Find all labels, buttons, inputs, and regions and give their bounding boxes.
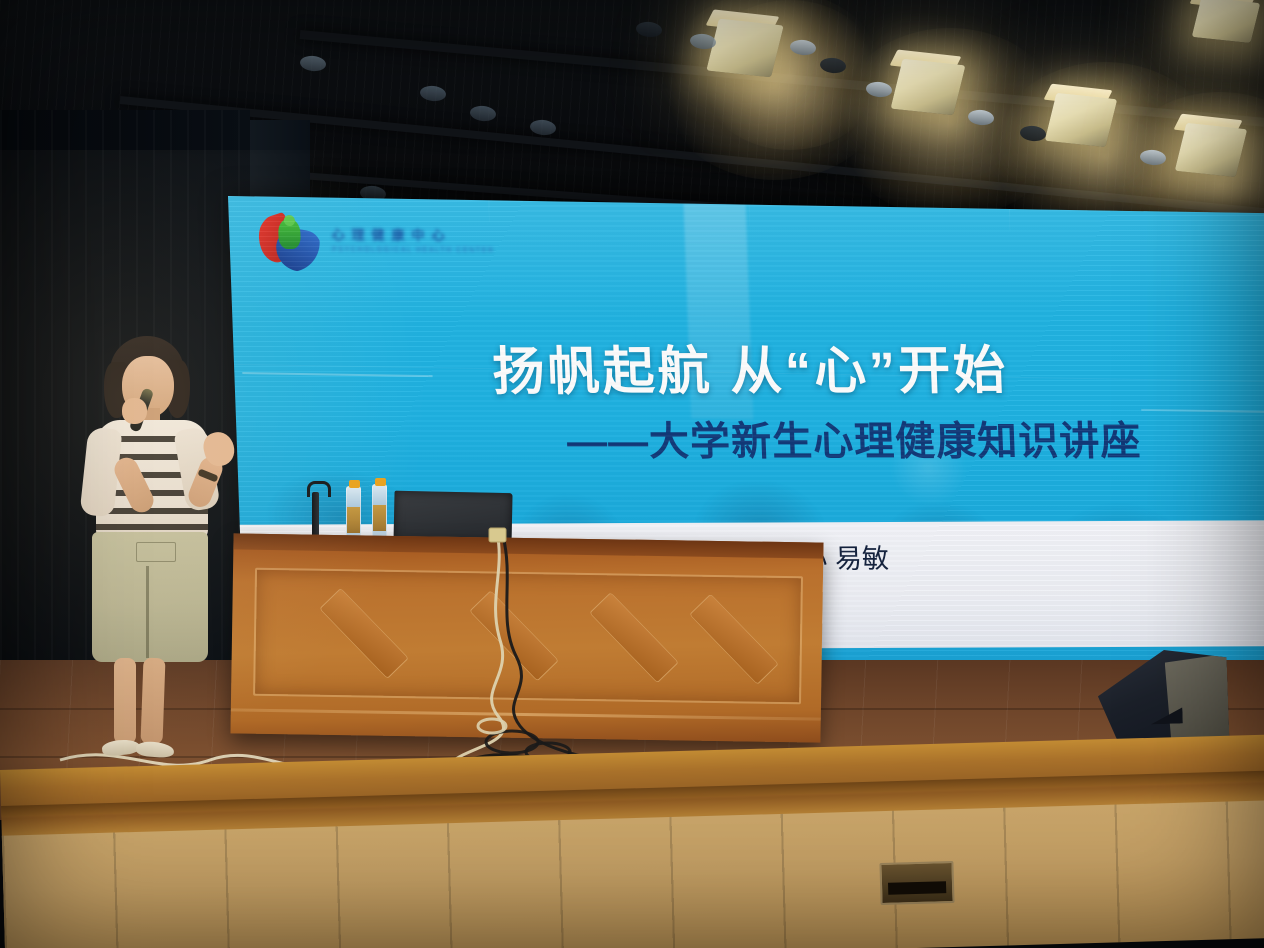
stage-spotlight [1180,126,1242,174]
floor-vent [879,861,954,905]
table-diamond-motif [590,593,677,682]
spotlight-body [1045,93,1117,147]
skirt-pocket [136,542,176,562]
presenter-table [230,533,823,742]
speaker-grille [1165,654,1230,740]
presenter-shoe [101,738,140,757]
skirt-slit [146,566,149,658]
table-diamond-motif [690,595,777,684]
bottle-label [373,505,386,531]
bottle-label [347,507,360,533]
microphone-stand [312,492,319,540]
spotlight-body [1175,123,1247,177]
table-diamond-motif [320,589,407,678]
spotlight-body [891,59,966,115]
stage-apron [0,733,1264,948]
stage-spotlight [1050,96,1112,144]
stage-spotlight [712,22,778,74]
table-trim [231,708,821,720]
presenter-leg [141,658,166,745]
top-stripe [96,524,208,530]
table-diamond-motif [470,591,557,680]
stage-spotlight [896,62,960,112]
apron-panel-wall [2,798,1264,948]
table-panel-frame [253,568,803,705]
bottle-cap [375,478,386,486]
spotlight-body [706,19,783,78]
presenter-shoe [136,741,175,759]
presenter-mic-hand [122,398,147,424]
presenter-skirt [92,532,208,662]
presenter-leg [114,658,136,744]
stage-spotlight [1196,0,1256,40]
stage-photo-scene: 心理健康中心 PSYCHOLOGICAL HEALTH CENTER 扬帆起航 … [0,0,1264,948]
presenter [62,336,252,766]
spotlight-body [1192,0,1261,43]
bottle-cap [349,480,360,488]
